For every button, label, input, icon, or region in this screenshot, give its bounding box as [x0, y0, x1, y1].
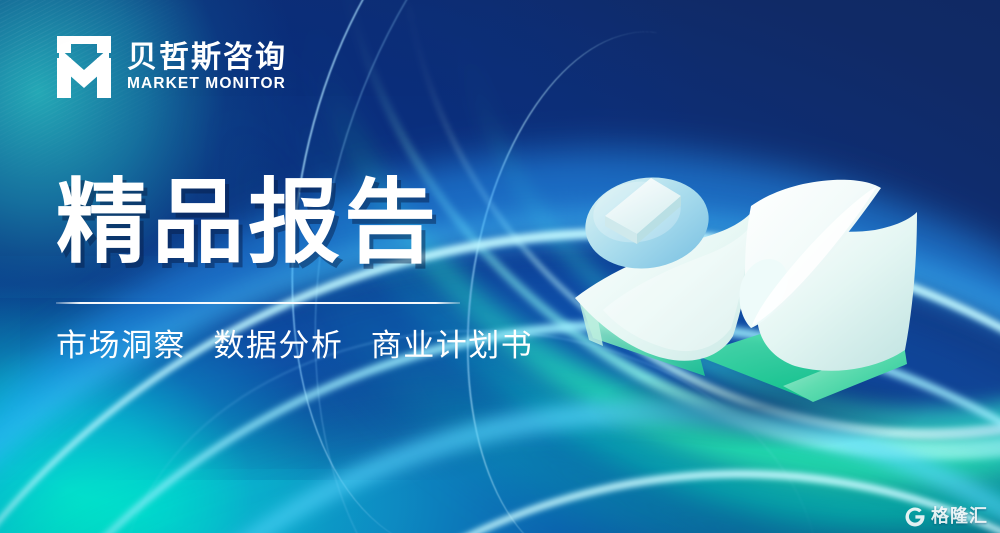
brand-name-en: MARKET MONITOR [127, 76, 287, 92]
brand-name-cn: 贝哲斯咨询 [127, 43, 287, 73]
headline-block: 精品报告 市场洞察 数据分析 商业计划书 [56, 176, 526, 362]
m-bracket-logo-icon [57, 36, 111, 98]
subtitle-item-business-plan: 商业计划书 [371, 328, 534, 364]
page-title: 精品报告 [56, 176, 526, 270]
watermark: 格隆汇 [905, 507, 988, 527]
title-divider [56, 302, 460, 304]
brand-logo-text: 贝哲斯咨询 MARKET MONITOR [127, 43, 287, 92]
g-logo-icon [905, 507, 925, 527]
subtitle-item-market-insight: 市场洞察 [56, 328, 186, 364]
brand-logo[interactable]: 贝哲斯咨询 MARKET MONITOR [57, 36, 287, 98]
report-banner: 贝哲斯咨询 MARKET MONITOR 精品报告 市场洞察 数据分析 商业计划… [0, 0, 1000, 533]
subtitle-list: 市场洞察 数据分析 商业计划书 [56, 331, 526, 362]
watermark-label: 格隆汇 [931, 508, 988, 526]
subtitle-item-data-analysis: 数据分析 [213, 328, 343, 364]
open-book-illustration [545, 150, 955, 450]
